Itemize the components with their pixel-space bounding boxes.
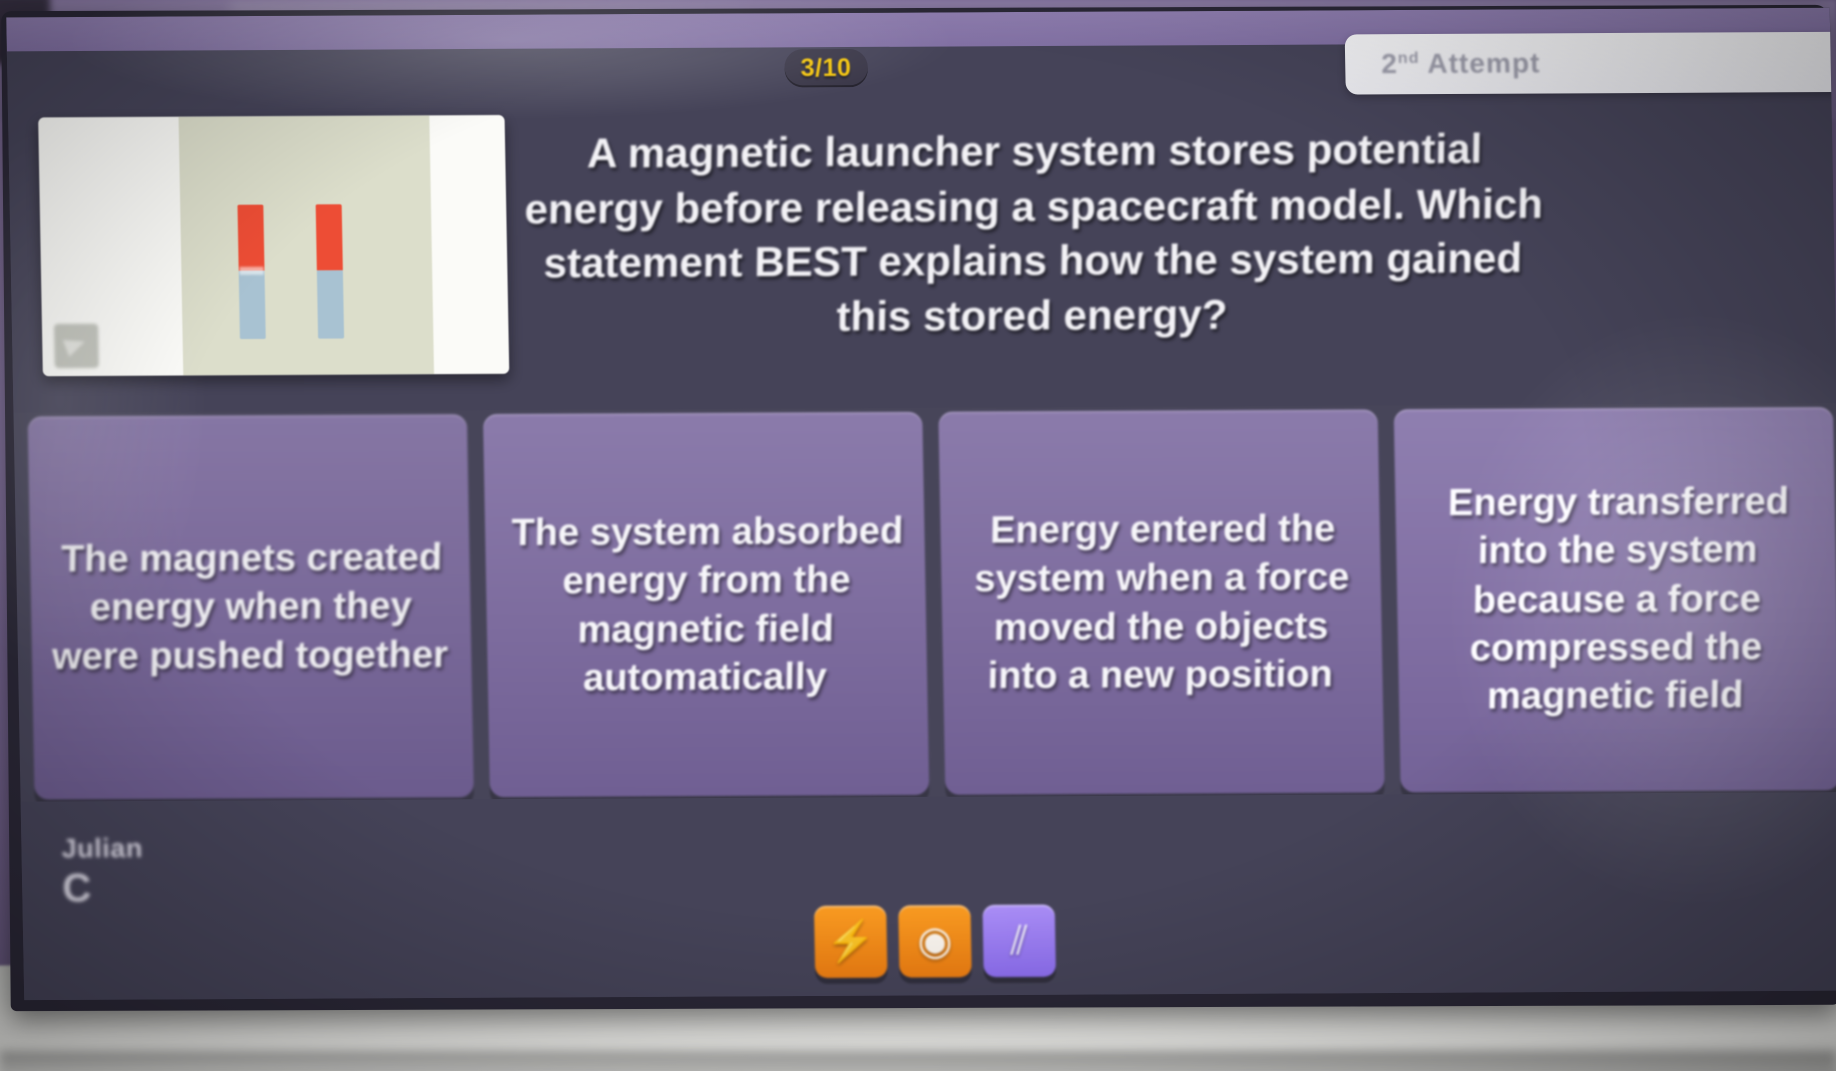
magnet-bar-right — [316, 204, 345, 339]
streak-powerup-button[interactable]: ⫽ — [982, 904, 1056, 977]
powerup-tray: ⚡ ◉ ⫽ — [814, 904, 1056, 977]
question-counter-text: 3/10 — [800, 54, 851, 83]
laptop-screen-bezel: 3/10 2nd Attempt — [1, 5, 1836, 1011]
laptop-base-shadow — [0, 1051, 1836, 1071]
swirl-powerup-button[interactable]: ◉ — [898, 905, 972, 978]
expand-image-icon[interactable] — [54, 324, 99, 368]
answer-option-a-label: The magnets created energy when they wer… — [44, 533, 458, 680]
question-counter-badge: 3/10 — [784, 49, 868, 88]
answer-option-c[interactable]: Energy entered the system when a force m… — [938, 409, 1384, 794]
player-initial: C — [62, 866, 144, 912]
answer-options-row: The magnets created energy when they wer… — [28, 407, 1836, 800]
photo-of-laptop-screen: 3/10 2nd Attempt — [0, 0, 1836, 1071]
attempt-badge: 2nd Attempt — [1345, 32, 1836, 95]
answer-option-a[interactable]: The magnets created energy when they wer… — [28, 414, 474, 799]
player-name: Julian — [61, 833, 143, 865]
magnet-pole-separator — [239, 267, 263, 275]
answer-option-d-label: Energy transferred into the system becau… — [1409, 478, 1824, 722]
magnet-north-pole — [316, 204, 343, 270]
question-image[interactable] — [38, 115, 509, 376]
lightning-powerup-button[interactable]: ⚡ — [814, 905, 888, 978]
question-text: A magnetic launcher system stores potent… — [510, 122, 1557, 347]
magnet-bar-left — [237, 205, 266, 340]
answer-option-c-label: Energy entered the system when a force m… — [954, 504, 1368, 700]
magnet-board — [179, 115, 434, 375]
swirl-icon: ◉ — [917, 921, 953, 961]
magnet-north-pole — [237, 205, 264, 271]
player-info: Julian C — [61, 833, 144, 912]
attempt-ordinal-suffix: nd — [1398, 50, 1420, 67]
lightning-icon: ⚡ — [825, 921, 876, 961]
quiz-app-screen: 3/10 2nd Attempt — [6, 8, 1836, 1000]
magnet-south-pole — [239, 271, 266, 339]
magnet-south-pole — [317, 270, 344, 338]
attempt-ordinal: 2 — [1381, 48, 1398, 79]
attempt-badge-text: 2nd Attempt — [1381, 47, 1541, 80]
answer-option-b-label: The system absorbed energy from the magn… — [499, 507, 913, 703]
answer-option-d[interactable]: Energy transferred into the system becau… — [1394, 407, 1836, 792]
streak-icon: ⫽ — [1010, 921, 1029, 961]
answer-option-b[interactable]: The system absorbed energy from the magn… — [483, 412, 929, 797]
attempt-word: Attempt — [1427, 47, 1541, 79]
bottom-bar: Julian C ⚡ ◉ ⫽ — [21, 792, 1836, 1000]
